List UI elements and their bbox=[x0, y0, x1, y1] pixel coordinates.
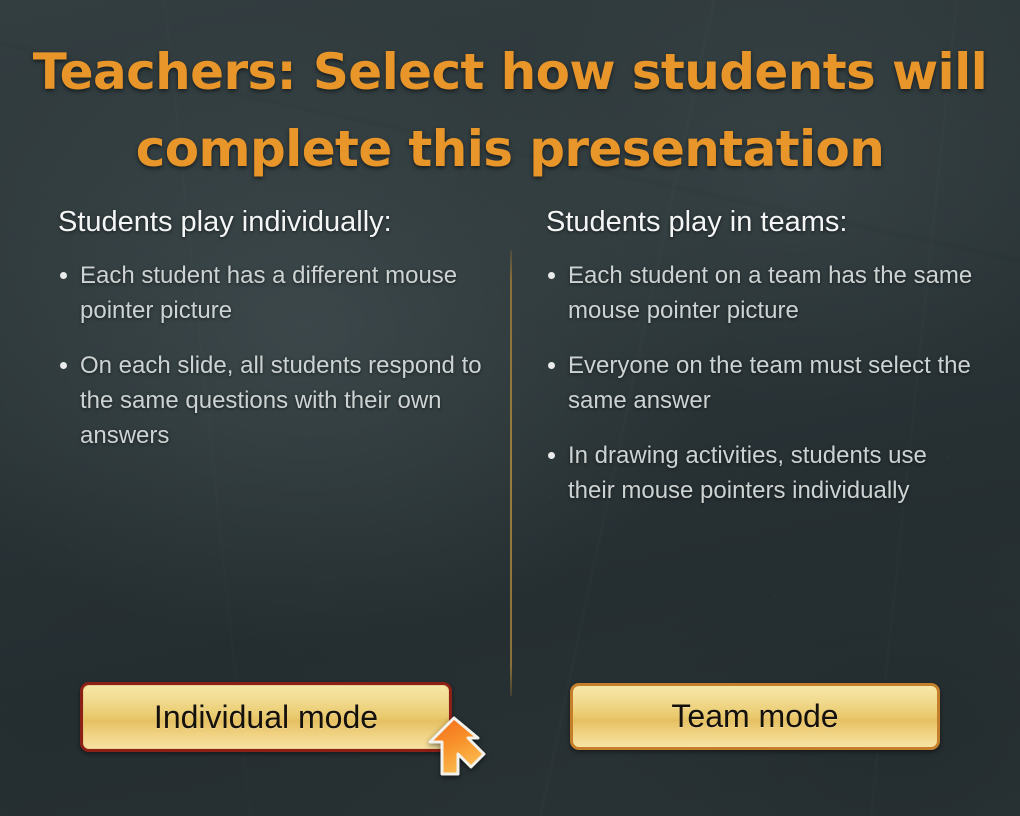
bullet-list-teams: Each student on a team has the same mous… bbox=[546, 258, 978, 508]
bullet-list-individual: Each student has a different mouse point… bbox=[58, 258, 490, 453]
team-mode-button[interactable]: Team mode bbox=[570, 683, 940, 750]
list-item: In drawing activities, students use thei… bbox=[546, 438, 978, 508]
column-teams: Students play in teams: Each student on … bbox=[546, 204, 978, 508]
column-heading-teams: Students play in teams: bbox=[546, 204, 978, 240]
column-heading-individual: Students play individually: bbox=[58, 204, 490, 240]
list-item: Everyone on the team must select the sam… bbox=[546, 348, 978, 418]
column-individual: Students play individually: Each student… bbox=[58, 204, 490, 453]
list-item: Each student on a team has the same mous… bbox=[546, 258, 978, 328]
list-item: On each slide, all students respond to t… bbox=[58, 348, 490, 453]
individual-mode-button[interactable]: Individual mode bbox=[80, 682, 452, 752]
column-divider bbox=[510, 250, 512, 696]
page-title: Teachers: Select how students will compl… bbox=[30, 34, 990, 188]
presentation-slide: Teachers: Select how students will compl… bbox=[0, 0, 1020, 816]
list-item: Each student has a different mouse point… bbox=[58, 258, 490, 328]
